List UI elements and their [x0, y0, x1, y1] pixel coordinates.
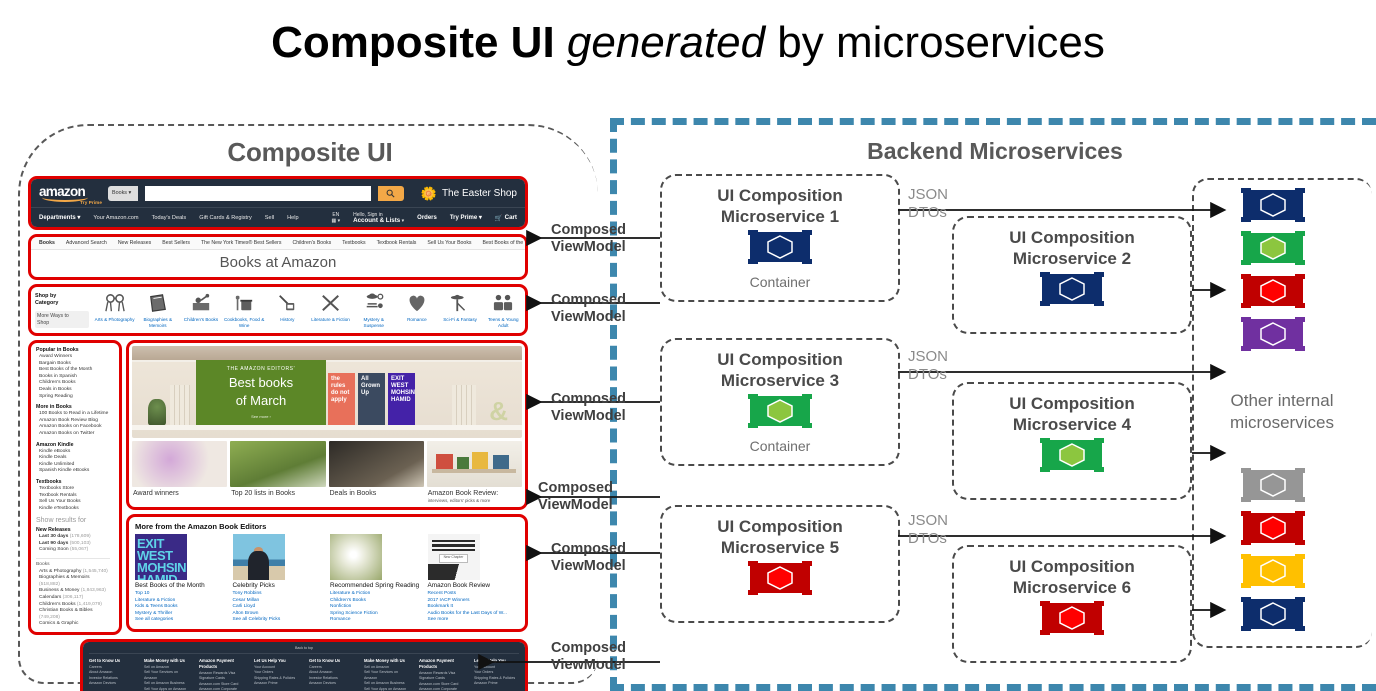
footer-link[interactable]: Amazon.com Corporate Credit Line: [419, 687, 464, 691]
category-label: Arts & Photography: [94, 317, 136, 323]
sidebar-link[interactable]: Kindle eTextbooks: [36, 506, 110, 513]
sidebar-link[interactable]: Deals in Books: [36, 387, 110, 394]
json-dtos-label-3: JSON DTOs: [908, 512, 948, 548]
category-label: Teens & Young Adult: [482, 317, 524, 328]
editors-link[interactable]: Carli Lloyd: [233, 604, 325, 611]
tile[interactable]: Award winners: [132, 441, 227, 504]
hero-books-left-decor: [170, 385, 190, 425]
category-item[interactable]: Children's Books: [180, 290, 222, 331]
footer-column: Let Us Help You Your Account Your Orders…: [254, 658, 299, 691]
editors-link[interactable]: Kids & Teens Books: [135, 604, 227, 611]
nav-orders[interactable]: Orders: [417, 215, 437, 221]
amazon-header: amazon Try Prime Books ▾ 🌼 The Easter Sh…: [31, 179, 525, 227]
nav-link-todays-deals[interactable]: Today's Deals: [152, 215, 187, 221]
books-filter-heading: Books: [36, 562, 110, 569]
sidebar-link[interactable]: Spanish Kindle eBooks: [36, 468, 110, 475]
subnav-childrens-books[interactable]: Children's Books: [292, 240, 331, 246]
footer-column: Amazon Payment Products Amazon Rewards V…: [419, 658, 464, 691]
sidebar-group: Textbooks Textbooks Store Textbook Renta…: [36, 479, 110, 512]
editors-thumbnail[interactable]: [330, 534, 382, 580]
flower-icon: 🌼: [421, 187, 437, 200]
review-line-decor: [432, 540, 476, 543]
microservice-title: UI Composition Microservice 1: [662, 176, 898, 227]
wizard-icon: [439, 290, 481, 316]
composed-viewmodel-label-6: Composed ViewModel: [551, 640, 626, 674]
title-bold: Composite UI: [271, 18, 567, 67]
title-italic: generated: [567, 18, 765, 67]
subnav-best-books-month[interactable]: Best Books of the Month: [483, 240, 528, 246]
nav-try-prime[interactable]: Try Prime ▾: [450, 214, 482, 221]
editors-column-heading: Amazon Book Review: [428, 582, 520, 590]
tile-thumbnail: [132, 441, 227, 487]
composed-viewmodel-label-3: Composed ViewModel: [551, 391, 626, 425]
footer-link[interactable]: Amazon Devices: [89, 681, 134, 686]
microservice-title: UI Composition Microservice 6: [954, 547, 1190, 598]
pot-icon: [223, 290, 265, 316]
footer-link[interactable]: Sell on Amazon Business: [364, 681, 409, 686]
footer-link[interactable]: Amazon Rewards Visa Signature Cards: [199, 671, 244, 682]
subnav-nyt-best-sellers[interactable]: The New York Times® Best Sellers: [201, 240, 282, 246]
json-dtos-label-2: JSON DTOs: [908, 348, 948, 384]
microservice-box-6[interactable]: UI Composition Microservice 6: [952, 545, 1192, 663]
editors-thumbnail[interactable]: [233, 534, 285, 580]
editors-column: Recommended Spring Reading Literature & …: [330, 534, 422, 624]
hero-book-3-title: EXIT WEST MOHSIN HAMID: [388, 373, 415, 407]
amazon-body: Popular in Books Award Winners Bargain B…: [28, 340, 528, 639]
book-icon: [137, 290, 179, 316]
category-label: Biographies & Memoirs: [137, 317, 179, 328]
tile-thumbnail: [329, 441, 424, 487]
amazon-header-top: amazon Try Prime Books ▾ 🌼 The Easter Sh…: [31, 179, 525, 207]
hero-kicker: THE AMAZON EDITORS': [196, 366, 326, 372]
hero-book-1-title: the rules do not apply: [328, 373, 355, 407]
subnav-advanced-search[interactable]: Advanced Search: [66, 240, 107, 246]
tile-book-decor: [472, 452, 487, 469]
back-to-top-button[interactable]: Back to top: [89, 646, 519, 654]
tile-book-decor: [436, 454, 453, 470]
filter-link[interactable]: Last 30 days (178,609): [36, 534, 110, 541]
json-dtos-label-1: JSON DTOs: [908, 186, 948, 222]
toybox-icon: [180, 290, 222, 316]
shop-by-category-side: Shop by Category More Ways to Shop: [31, 290, 93, 331]
editors-column: Celebrity Picks Tony Robbins Cesar Milla…: [233, 534, 325, 624]
tile[interactable]: Deals in Books: [329, 441, 424, 504]
tile-book-decor: [493, 455, 508, 469]
tile-caption: Award winners: [132, 487, 227, 498]
heart-icon: [396, 290, 438, 316]
tile-shelf-decor: [432, 469, 516, 473]
footer-heading: Amazon Payment Products: [419, 658, 464, 670]
subnav-best-sellers[interactable]: Best Sellers: [162, 240, 190, 246]
tile[interactable]: Amazon Book Review: interviews, editors'…: [427, 441, 522, 504]
cart-button[interactable]: 🛒Cart: [495, 214, 517, 222]
nav-departments[interactable]: Departments ▾: [39, 214, 80, 221]
review-wedge-decor: [428, 564, 480, 580]
filter-link[interactable]: Calendars (306,117): [36, 595, 110, 602]
footer-link[interactable]: Sell Your Apps on Amazon: [364, 687, 409, 691]
footer-link[interactable]: Amazon Rewards Visa Signature Cards: [419, 671, 464, 682]
container-label: Container: [662, 438, 898, 454]
sidebar-link[interactable]: Award Winners: [36, 354, 110, 361]
tile-caption: Deals in Books: [329, 487, 424, 498]
cart-icon: 🛒: [495, 214, 503, 222]
category-item[interactable]: Arts & Photography: [94, 290, 136, 331]
tile-caption: Amazon Book Review: interviews, editors'…: [427, 487, 522, 504]
nav-link-sell[interactable]: Sell: [265, 215, 274, 221]
filter-link[interactable]: Biographies & Memoirs (518,882): [36, 575, 110, 588]
subnav-textbooks[interactable]: Textbooks: [342, 240, 365, 246]
microservice-title: UI Composition Microservice 5: [662, 507, 898, 558]
tile-subcaption: interviews, editors' picks & more: [428, 498, 521, 504]
footer-column: Make Money with Us Sell on Amazon Sell Y…: [364, 658, 409, 691]
shop-by-category: Shop by Category More Ways to Shop Arts …: [31, 287, 525, 333]
amazon-logo[interactable]: amazon Try Prime: [39, 185, 101, 202]
shop-by-title-2: Category: [35, 300, 89, 307]
filter-link[interactable]: Coming Soon (55,067): [36, 547, 110, 554]
title-normal: by microservices: [765, 18, 1105, 67]
search-category-value: Books: [112, 190, 127, 196]
category-label: Mystery & Suspense: [353, 317, 395, 328]
category-label: Cookbooks, Food & Wine: [223, 317, 265, 328]
hero-cta[interactable]: See more ›: [196, 414, 326, 419]
more-editors-row: EXIT WEST MOHSIN HAMID Best Books of the…: [129, 534, 525, 629]
review-line-decor: [432, 549, 476, 552]
editors-link[interactable]: Literature & Fiction: [330, 591, 422, 598]
show-results-for-heading: Show results for: [36, 517, 110, 524]
category-label: Children's Books: [180, 317, 222, 323]
sidebar-region: Popular in Books Award Winners Bargain B…: [28, 340, 122, 635]
more-editors-title: More from the Amazon Book Editors: [129, 517, 525, 534]
category-item[interactable]: History: [266, 290, 308, 331]
teens-icon: [482, 290, 524, 316]
hero-banner[interactable]: THE AMAZON EDITORS' Best books of March …: [132, 346, 522, 438]
search-icon[interactable]: [378, 186, 404, 201]
editors-thumbnail[interactable]: EXIT WEST MOHSIN HAMID: [135, 534, 187, 580]
category-label: History: [266, 317, 308, 323]
amazon-wordmark: amazon: [39, 185, 101, 198]
review-thumb-caption: New Chapter: [439, 554, 468, 563]
sidebar-group-heading: Popular in Books: [36, 347, 110, 354]
search-input[interactable]: [145, 186, 371, 201]
footer-link[interactable]: Amazon Prime: [474, 681, 519, 686]
backend-heading: Backend Microservices: [760, 138, 1230, 165]
category-item[interactable]: Literature & Fiction: [310, 290, 352, 331]
tile[interactable]: Top 20 lists in Books: [230, 441, 325, 504]
category-label: Literature & Fiction: [310, 317, 352, 323]
editors-column: EXIT WEST MOHSIN HAMID Best Books of the…: [135, 534, 227, 624]
subnav-textbook-rentals[interactable]: Textbook Rentals: [377, 240, 417, 246]
composed-viewmodel-label-4: Composed ViewModel: [538, 480, 613, 514]
microservice-title: UI Composition Microservice 2: [954, 218, 1190, 269]
container-label: Container: [662, 274, 898, 290]
editors-link[interactable]: Top 10: [135, 591, 227, 598]
tile-book-decor: [457, 457, 468, 469]
composite-ui-heading: Composite UI: [120, 137, 500, 168]
category-item[interactable]: Cookbooks, Food & Wine: [223, 290, 265, 331]
more-editors-region: More from the Amazon Book Editors EXIT W…: [126, 514, 528, 632]
category-label: Romance: [396, 317, 438, 323]
footer-heading: Let Us Help You: [254, 658, 299, 664]
hero-line1: Best books: [196, 375, 326, 390]
sidebar-divider: [36, 558, 110, 559]
footer-link[interactable]: Sell on Amazon Business: [144, 681, 189, 686]
hero-shelf-bar: [132, 425, 522, 430]
sidebar-group: Amazon Kindle Kindle eBooks Kindle Deals…: [36, 442, 110, 475]
category-item[interactable]: Sci-Fi & Fantasy: [439, 290, 481, 331]
detective-icon: [353, 290, 395, 316]
footer-heading: Amazon Payment Products: [199, 658, 244, 670]
subnav-books[interactable]: Books: [39, 240, 55, 246]
footer-column: Get to Know Us Careers About Amazon Inve…: [89, 658, 134, 691]
hero-book-2-title: All Grown Up: [358, 373, 385, 400]
editors-link[interactable]: Tony Robbins: [233, 591, 325, 598]
footer-column: Make Money with Us Sell on Amazon Sell Y…: [144, 658, 189, 691]
editors-column-heading: Celebrity Picks: [233, 582, 325, 590]
hero-books-right-decor: [452, 385, 476, 425]
account-menu[interactable]: Hello, Sign in Account & Lists ▾: [353, 212, 404, 224]
footer-heading: Make Money with Us: [364, 658, 409, 664]
filter-link[interactable]: Christian Books & Bibles (749,208): [36, 608, 110, 621]
sidebar-group-heading: Textbooks: [36, 479, 110, 486]
footer-link[interactable]: Amazon Devices: [309, 681, 354, 686]
hero-line2: of March: [196, 393, 326, 408]
container-icon: [1037, 269, 1107, 309]
sidebar-link[interactable]: 100 Books to Read in a Lifetime: [36, 411, 110, 418]
footer-link[interactable]: Amazon Prime: [254, 681, 299, 686]
sidebar-link[interactable]: Amazon Books on Facebook: [36, 424, 110, 431]
category-item[interactable]: Romance: [396, 290, 438, 331]
hero-book-1[interactable]: the rules do not apply: [328, 373, 355, 425]
nav-link-gift-cards[interactable]: Gift Cards & Registry: [199, 215, 252, 221]
amazon-footer: Back to top Get to Know Us Careers About…: [83, 642, 525, 691]
sidebar-group: Popular in Books Award Winners Bargain B…: [36, 347, 110, 400]
editors-column: New Chapter Amazon Book Review Recent Po…: [428, 534, 520, 624]
tile-row: Award winners Top 20 lists in Books Deal…: [129, 441, 525, 507]
books-sidebar: Popular in Books Award Winners Bargain B…: [31, 343, 115, 632]
amazon-main-content: THE AMAZON EDITORS' Best books of March …: [126, 340, 528, 639]
review-line-decor: [432, 544, 476, 547]
page-heading: Books at Amazon: [31, 250, 525, 277]
tile-caption: Top 20 lists in Books: [230, 487, 325, 498]
sidebar-group-heading: Amazon Kindle: [36, 442, 110, 449]
footer-heading: Let Us Help You: [474, 658, 519, 664]
footer-heading: Get to Know Us: [309, 658, 354, 664]
editors-link[interactable]: Bookmark It: [428, 604, 520, 611]
editors-column-heading: Best Books of the Month: [135, 582, 227, 590]
cart-label: Cart: [505, 214, 517, 221]
editors-column-heading: Recommended Spring Reading: [330, 582, 422, 590]
editors-link[interactable]: See all categories: [135, 617, 227, 624]
editors-link[interactable]: Nonfiction: [330, 604, 422, 611]
easter-shop-promo[interactable]: 🌼 The Easter Shop: [421, 187, 517, 200]
editors-link[interactable]: See more: [428, 617, 520, 624]
diagram-root: Composite UI generated by microservices …: [0, 0, 1376, 691]
language-selector[interactable]: EN▦ ▾: [332, 212, 341, 224]
footer-heading: Make Money with Us: [144, 658, 189, 664]
footer-columns: Get to Know Us Careers About Amazon Inve…: [89, 658, 519, 691]
microservice-box-2[interactable]: UI Composition Microservice 2: [952, 216, 1192, 334]
subnav-region: Books Advanced Search New Releases Best …: [28, 234, 528, 280]
container-icon: [745, 558, 815, 598]
microservice-title: UI Composition Microservice 4: [954, 384, 1190, 435]
editors-link[interactable]: Recent Posts: [428, 591, 520, 598]
hero-book-2[interactable]: All Grown Up: [358, 373, 385, 425]
amazon-logo-subtext: Try Prime: [80, 200, 102, 205]
search-category-select[interactable]: Books ▾: [108, 186, 138, 201]
account-label: Account & Lists: [353, 217, 400, 224]
more-ways-to-shop[interactable]: More Ways to Shop: [35, 311, 89, 328]
footer-column: Let Us Help You Your Account Your Orders…: [474, 658, 519, 691]
hero-plant-decor: [148, 399, 166, 425]
tile-thumbnail: [427, 441, 522, 487]
hero-book-3[interactable]: EXIT WEST MOHSIN HAMID: [388, 373, 415, 425]
nav-link-your-amazon[interactable]: Your Amazon.com: [93, 215, 138, 221]
sidebar-group: More in Books 100 Books to Read in a Lif…: [36, 404, 110, 437]
composed-viewmodel-label-5: Composed ViewModel: [551, 541, 626, 575]
tile-thumbnail: [230, 441, 325, 487]
editors-thumb-text: EXIT WEST MOHSIN HAMID: [135, 534, 187, 580]
subnav-sell-us-your-books[interactable]: Sell Us Your Books: [427, 240, 471, 246]
microservice-box-1[interactable]: UI Composition Microservice 1 Container: [660, 174, 900, 302]
microservice-box-5[interactable]: UI Composition Microservice 5: [660, 505, 900, 623]
microservice-box-4[interactable]: UI Composition Microservice 4: [952, 382, 1192, 500]
footer-link[interactable]: Sell Your Services on Amazon: [144, 670, 189, 681]
sidebar-link[interactable]: Textbooks Store: [36, 486, 110, 493]
footer-region: Back to top Get to Know Us Careers About…: [80, 639, 528, 691]
hero-shelf-top: [132, 346, 522, 362]
microservice-title: UI Composition Microservice 3: [662, 340, 898, 391]
container-icon: [745, 391, 815, 431]
editors-link[interactable]: See all Celebrity Picks: [233, 617, 325, 624]
sidebar-link[interactable]: Best Books of the Month: [36, 367, 110, 374]
sidebar-link[interactable]: Spring Reading: [36, 394, 110, 401]
microservice-box-3[interactable]: UI Composition Microservice 3 Container: [660, 338, 900, 466]
container-icon: [745, 227, 815, 267]
composed-viewmodel-label-1: Composed ViewModel: [551, 222, 626, 256]
sidebar-link[interactable]: Kindle Deals: [36, 455, 110, 462]
sidebar-link[interactable]: Children's Books: [36, 380, 110, 387]
category-item[interactable]: Teens & Young Adult: [482, 290, 524, 331]
more-ways-line2: Shop: [37, 320, 49, 326]
swords-icon: [310, 290, 352, 316]
easter-shop-label: The Easter Shop: [442, 188, 517, 199]
amazon-main-nav: Departments ▾ Your Amazon.com Today's De…: [31, 207, 525, 227]
editors-thumbnail[interactable]: New Chapter: [428, 534, 480, 580]
footer-link[interactable]: Sell Your Services on Amazon: [364, 670, 409, 681]
shop-by-category-region: Shop by Category More Ways to Shop Arts …: [28, 284, 528, 336]
editors-link[interactable]: Romance: [330, 617, 422, 624]
composed-viewmodel-label-2: Composed ViewModel: [551, 292, 626, 326]
more-ways-line1: More Ways to: [37, 313, 69, 319]
filter-link[interactable]: Comics & Graphic: [36, 621, 110, 628]
category-item[interactable]: Mystery & Suspense: [353, 290, 395, 331]
hero-panel: THE AMAZON EDITORS' Best books of March …: [196, 360, 326, 425]
category-label: Sci-Fi & Fantasy: [439, 317, 481, 323]
header-region: amazon Try Prime Books ▾ 🌼 The Easter Sh…: [28, 176, 528, 230]
amazon-mockup: amazon Try Prime Books ▾ 🌼 The Easter Sh…: [28, 176, 528, 691]
celebrity-body-decor: [248, 551, 269, 580]
sidebar-link[interactable]: Amazon Books on Twitter: [36, 431, 110, 438]
footer-link[interactable]: Sell Your Apps on Amazon: [144, 687, 189, 691]
hero-wrap: THE AMAZON EDITORS' Best books of March …: [129, 343, 525, 441]
sidebar-link[interactable]: Sell Us Your Books: [36, 499, 110, 506]
footer-link[interactable]: Amazon.com Corporate Credit Line: [199, 687, 244, 691]
footer-column: Amazon Payment Products Amazon Rewards V…: [199, 658, 244, 691]
page-title: Composite UI generated by microservices: [0, 14, 1376, 72]
footer-column: Get to Know Us Careers About Amazon Inve…: [309, 658, 354, 691]
other-microservices-label: Other internal microservices: [1198, 390, 1366, 434]
container-icon: [1037, 435, 1107, 475]
category-item[interactable]: Biographies & Memoirs: [137, 290, 179, 331]
category-list: Arts & Photography Biographies & Memoirs…: [93, 290, 525, 331]
subnav-new-releases[interactable]: New Releases: [118, 240, 151, 246]
hero-region: THE AMAZON EDITORS' Best books of March …: [126, 340, 528, 510]
books-subnav: Books Advanced Search New Releases Best …: [31, 237, 525, 250]
quill-icon: [266, 290, 308, 316]
glasses-icon: [94, 290, 136, 316]
footer-heading: Get to Know Us: [89, 658, 134, 664]
nav-link-help[interactable]: Help: [287, 215, 299, 221]
container-icon: [1037, 598, 1107, 638]
hero-ampersand-decor: &: [489, 398, 508, 424]
